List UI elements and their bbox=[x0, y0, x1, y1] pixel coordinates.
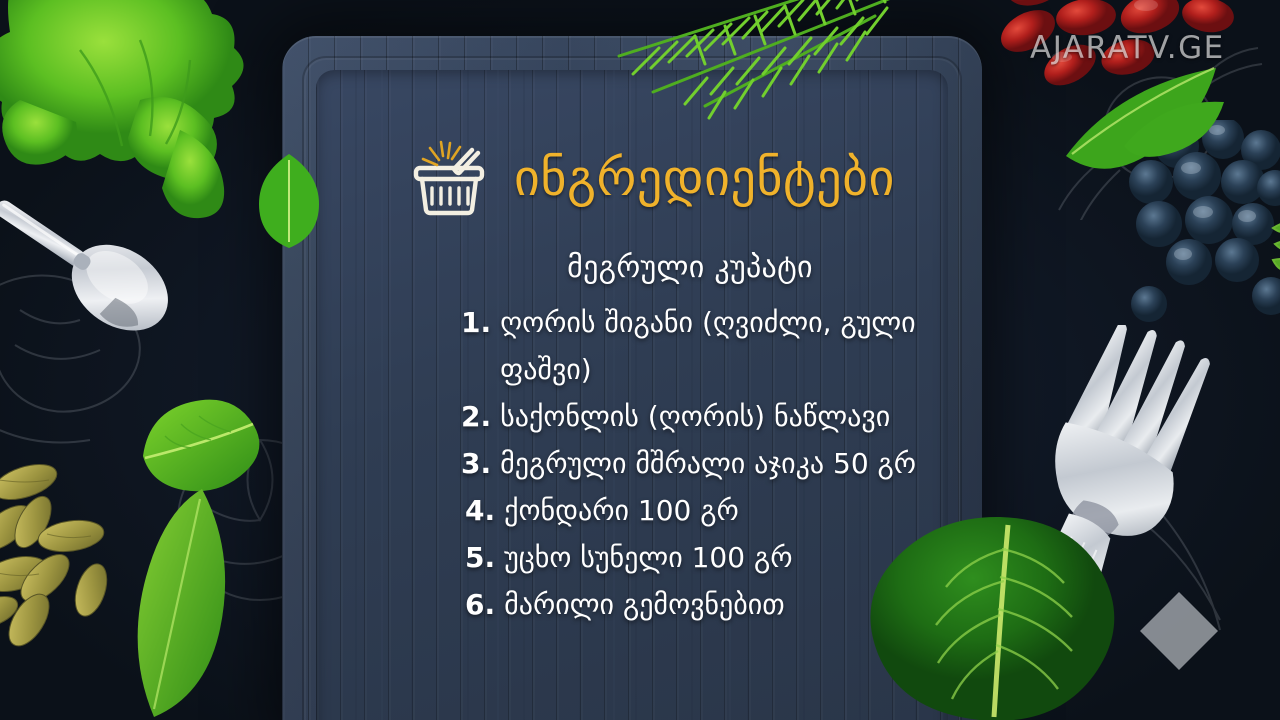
list-item-number: 4. bbox=[465, 487, 495, 534]
cardamom-pods bbox=[0, 450, 205, 650]
section-heading: ინგრედიენტები bbox=[410, 138, 895, 218]
parsley-bunch bbox=[0, 0, 320, 240]
fork bbox=[1005, 325, 1235, 625]
mint-leaf bbox=[135, 390, 265, 510]
blueberries bbox=[1125, 120, 1280, 330]
list-item-label: მეგრული მშრალი აჯიკა 50 გრ bbox=[500, 440, 916, 487]
list-item-number: 3. bbox=[461, 440, 491, 487]
ingredients-list: 1. ღორის შიგანი (ღვიძლი, გული ფაშვი) 2. … bbox=[455, 299, 925, 628]
list-item-number: 6. bbox=[465, 581, 495, 628]
chalk-sketch-icon bbox=[0, 250, 240, 480]
list-item-number: 2. bbox=[461, 393, 491, 440]
list-item: 6. მარილი გემოვნებით bbox=[455, 581, 925, 628]
recipe-card-scene: ინგრედიენტები მეგრული კუპატი 1. ღორის ში… bbox=[0, 0, 1280, 720]
list-item: 5. უცხო სუნელი 100 გრ bbox=[455, 534, 925, 581]
list-item-label: ქონდარი 100 გრ bbox=[504, 487, 739, 534]
blueberry-leaf bbox=[1120, 100, 1230, 160]
ingredients-panel: მეგრული კუპატი 1. ღორის შიგანი (ღვიძლი, … bbox=[455, 250, 925, 628]
dish-title: მეგრული კუპატი bbox=[455, 250, 925, 285]
list-item-label: ღორის შიგანი (ღვიძლი, გული ფაშვი) bbox=[500, 299, 925, 393]
list-item-number: 5. bbox=[465, 534, 495, 581]
list-item-number: 1. bbox=[461, 299, 491, 393]
list-item-label: საქონლის (ღორის) ნაწლავი bbox=[500, 393, 890, 440]
diamond-logo-icon bbox=[1136, 588, 1222, 674]
channel-watermark: AJARATV.GE bbox=[1030, 30, 1225, 66]
list-item: 3. მეგრული მშრალი აჯიკა 50 გრ bbox=[455, 440, 925, 487]
list-item: 2. საქონლის (ღორის) ნაწლავი bbox=[455, 393, 925, 440]
section-heading-title: ინგრედიენტები bbox=[514, 149, 895, 207]
list-item: 1. ღორის შიგანი (ღვიძლი, გული ფაშვი) bbox=[455, 299, 925, 393]
shopping-basket-icon bbox=[410, 138, 494, 218]
spoon bbox=[0, 145, 215, 405]
cherry-leaf bbox=[1060, 60, 1250, 170]
list-item: 4. ქონდარი 100 გრ bbox=[455, 487, 925, 534]
list-item-label: უცხო სუნელი 100 გრ bbox=[504, 534, 792, 581]
list-item-label: მარილი გემოვნებით bbox=[504, 581, 785, 628]
bay-leaf bbox=[110, 485, 240, 720]
